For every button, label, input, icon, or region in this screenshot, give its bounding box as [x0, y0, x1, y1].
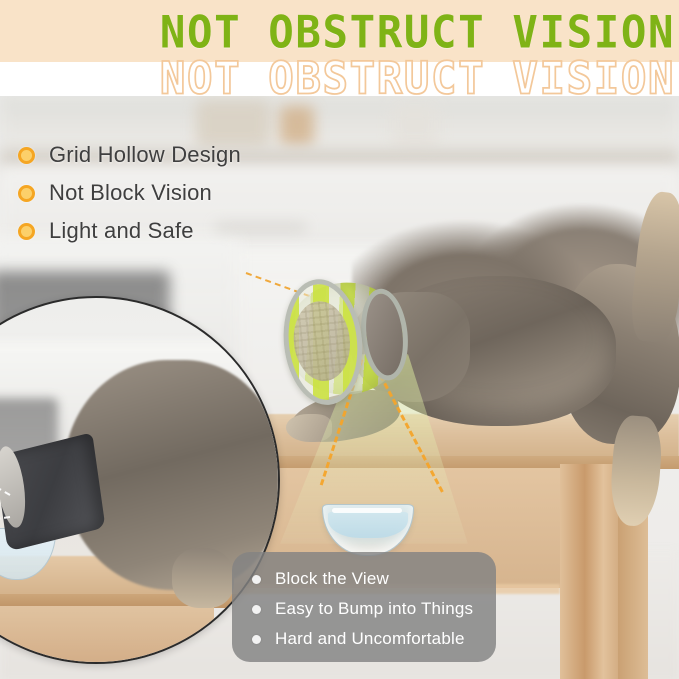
feature-list: Grid Hollow Design Not Block Vision Ligh… [18, 136, 318, 250]
list-item: Not Block Vision [18, 174, 318, 212]
bullet-ring-icon [18, 147, 35, 164]
list-item: Block the View [232, 564, 496, 594]
feature-label: Not Block Vision [49, 180, 212, 206]
inset-cat-leg [172, 548, 234, 608]
bullet-ring-icon [18, 223, 35, 240]
bullet-dot-icon [252, 575, 261, 584]
drawback-label: Easy to Bump into Things [275, 599, 473, 619]
list-item: Grid Hollow Design [18, 136, 318, 174]
bullet-dot-icon [252, 635, 261, 644]
bullet-ring-icon [18, 185, 35, 202]
feature-label: Grid Hollow Design [49, 142, 241, 168]
drawbacks-callout: Block the View Easy to Bump into Things … [232, 552, 496, 662]
drawback-label: Hard and Uncomfortable [275, 629, 465, 649]
drawback-label: Block the View [275, 569, 389, 589]
shelf-item-box [392, 104, 438, 146]
list-item: Hard and Uncomfortable [232, 624, 496, 654]
bullet-dot-icon [252, 605, 261, 614]
product-infographic: NOT OBSTRUCT VISION NOT OBSTRUCT VISION [0, 0, 679, 679]
list-item: Light and Safe [18, 212, 318, 250]
bowl-rim-highlight [332, 508, 402, 513]
inset-table-apron [0, 606, 214, 664]
list-item: Easy to Bump into Things [232, 594, 496, 624]
mesh-recovery-cone [282, 270, 423, 413]
page-title: NOT OBSTRUCT VISION [160, 7, 675, 59]
cat-hind-leg [608, 414, 664, 527]
feature-label: Light and Safe [49, 218, 194, 244]
